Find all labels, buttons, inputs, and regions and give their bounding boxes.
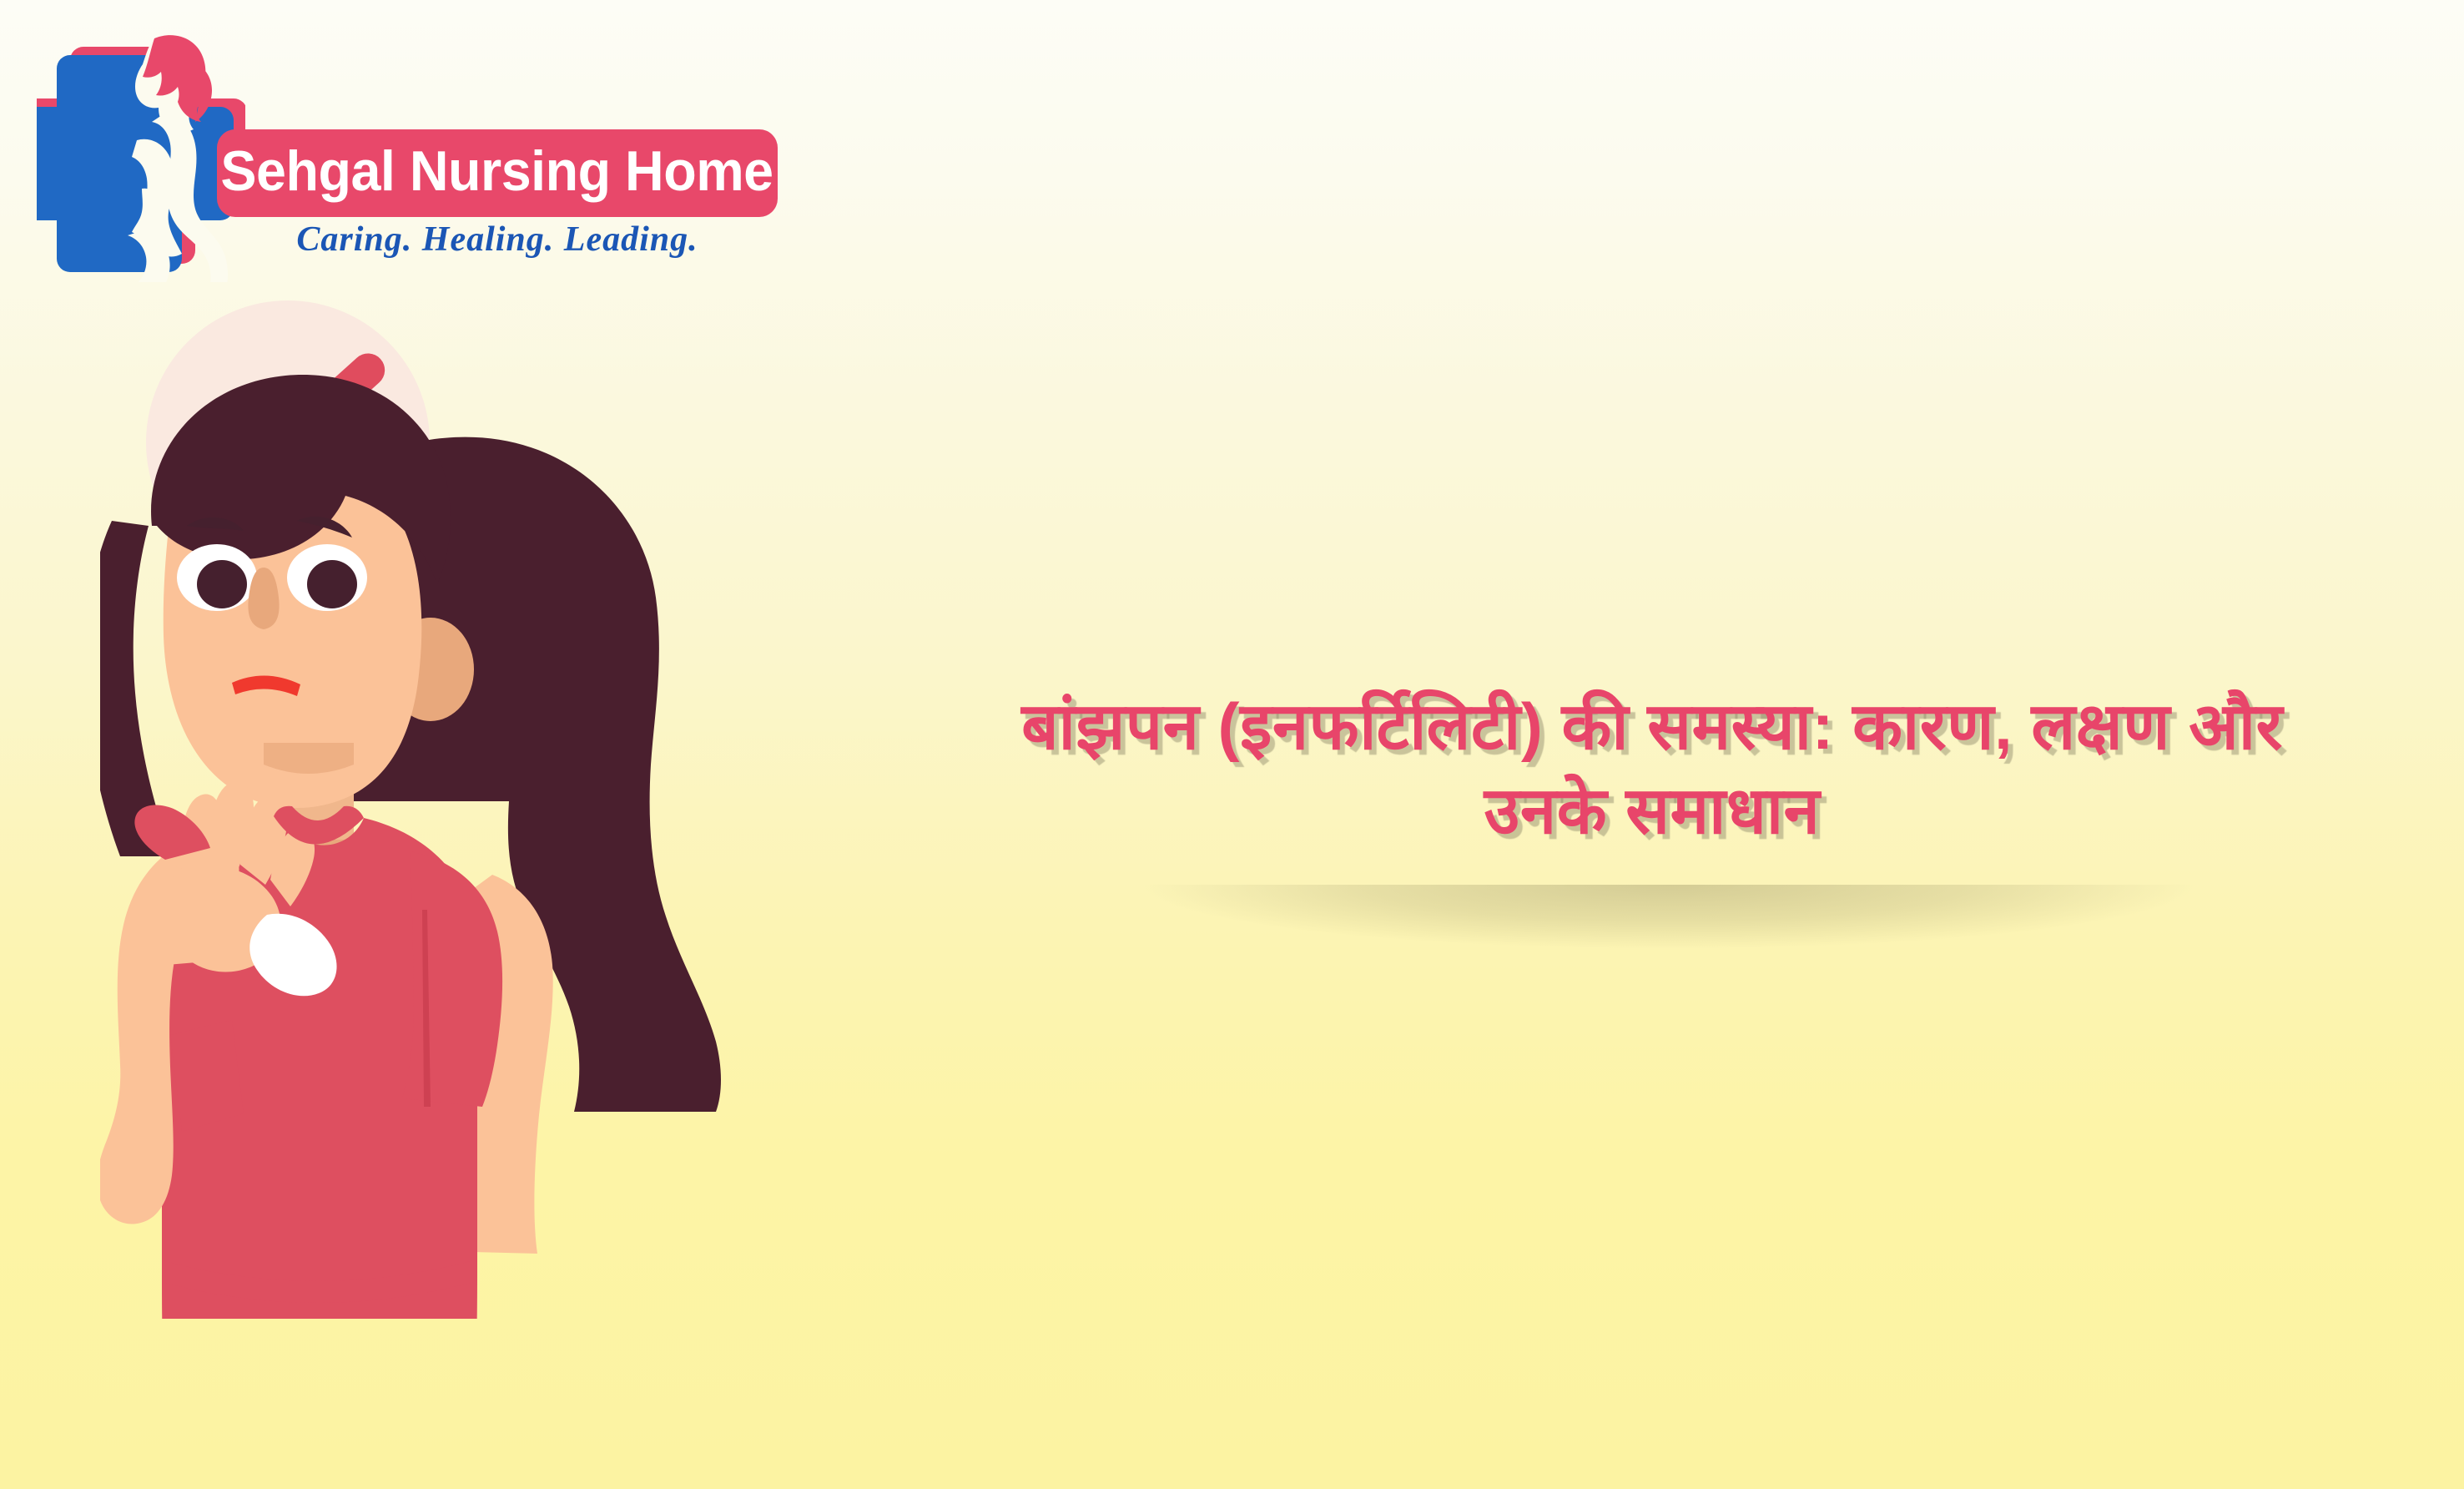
woman-character bbox=[100, 275, 985, 1319]
logo-name-banner: Sehgal Nursing Home bbox=[217, 129, 778, 217]
logo[interactable]: Sehgal Nursing Home Caring. Healing. Lea… bbox=[37, 15, 771, 282]
title-drop-shadow bbox=[993, 885, 2345, 1043]
sleeve-cuff-left bbox=[170, 1020, 244, 1132]
eye-left-pupil bbox=[197, 560, 247, 608]
worried-woman-illustration bbox=[100, 275, 985, 1319]
blog-banner: Sehgal Nursing Home Caring. Healing. Lea… bbox=[0, 0, 2464, 1489]
page-title: बांझपन (इनफर्टिलिटी) की समस्या: कारण, लक… bbox=[1018, 684, 2286, 854]
pregnant-woman-medical-cross-icon bbox=[37, 15, 245, 282]
eye-right-pupil bbox=[307, 560, 357, 608]
logo-tagline: Caring. Healing. Leading. bbox=[217, 220, 778, 260]
page-title-text: बांझपन (इनफर्टिलिटी) की समस्या: कारण, लक… bbox=[1018, 684, 2286, 854]
chin-shadow bbox=[264, 743, 354, 774]
logo-name-text: Sehgal Nursing Home bbox=[221, 139, 773, 204]
